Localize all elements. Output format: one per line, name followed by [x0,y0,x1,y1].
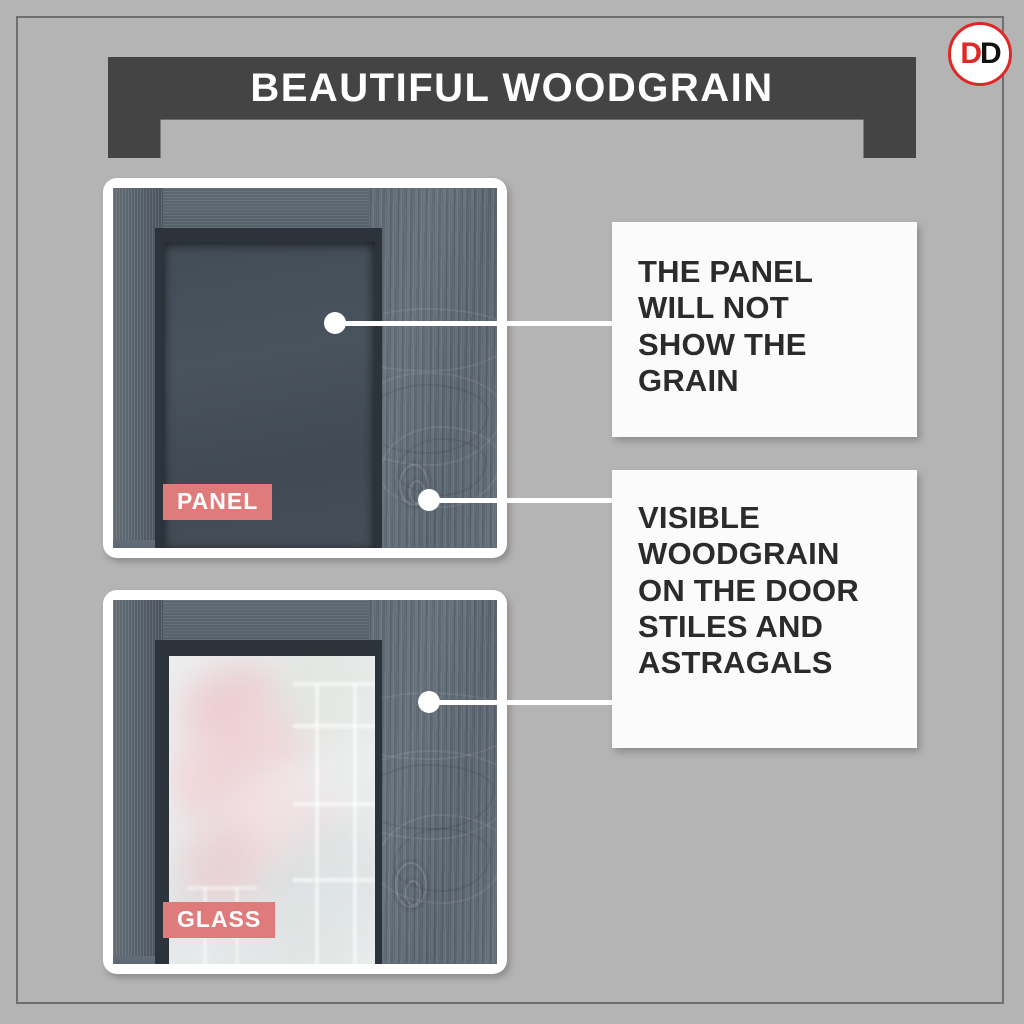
brand-logo-text: DD [960,39,999,69]
connector-line-stiles-top [432,498,618,503]
panel-badge: PANEL [163,484,272,520]
callout-panel-text: THE PANEL WILL NOT SHOW THE GRAIN [638,254,917,399]
page-title: BEAUTIFUL WOODGRAIN [108,57,916,120]
callout-stiles-text: VISIBLE WOODGRAIN ON THE DOOR STILES AND… [638,500,917,681]
brand-letter-second: D [980,37,1000,70]
callout-panel: THE PANEL WILL NOT SHOW THE GRAIN [612,222,917,437]
connector-dot-stiles-bottom [418,691,440,713]
glass-badge: GLASS [163,902,275,938]
door-panel-photo: PANEL [113,188,497,548]
brand-logo[interactable]: DD [948,22,1012,86]
woodgrain-stile-glass [369,600,497,964]
connector-dot-stiles-top [418,489,440,511]
header-ribbon: BEAUTIFUL WOODGRAIN [108,57,916,158]
connector-dot-panel [324,312,346,334]
callout-stiles: VISIBLE WOODGRAIN ON THE DOOR STILES AND… [612,470,917,748]
door-glass-photo: GLASS [113,600,497,964]
door-glass-photo-card: GLASS [103,590,507,974]
connector-line-panel [340,321,618,326]
connector-line-stiles-bottom [432,700,618,705]
brand-letter-first: D [960,37,980,70]
